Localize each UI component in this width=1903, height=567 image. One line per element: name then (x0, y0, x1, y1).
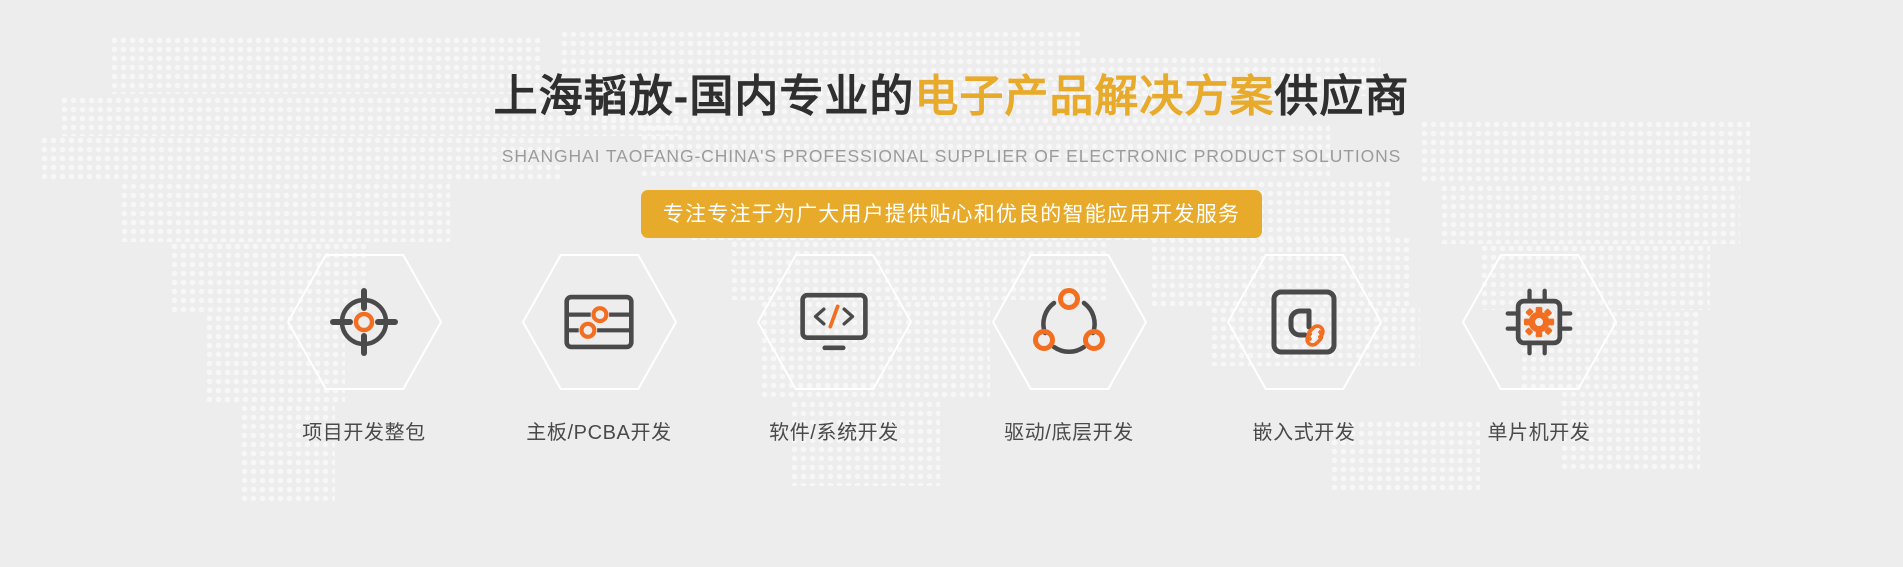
service-item-embedded[interactable]: 嵌入式开发 (1207, 254, 1402, 445)
hexagon-frame (1462, 254, 1617, 390)
headline-part-1: 上海韬放-国内专业的 (494, 72, 915, 121)
service-item-pcba[interactable]: 主板/PCBA开发 (502, 254, 697, 445)
hexagon-frame (757, 254, 912, 390)
network-nodes-icon (1033, 286, 1105, 358)
hexagon-frame (992, 254, 1147, 390)
embedded-link-icon (1268, 286, 1340, 358)
service-label: 软件/系统开发 (769, 416, 899, 445)
service-label: 嵌入式开发 (1253, 416, 1356, 445)
crosshair-target-icon (328, 286, 400, 358)
headline-highlight: 电子产品解决方案 (914, 72, 1274, 121)
service-item-mcu[interactable]: 单片机开发 (1442, 254, 1637, 445)
monitor-code-icon (798, 286, 870, 358)
page-subtitle: SHANGHAI TAOFANG-CHINA'S PROFESSIONAL SU… (0, 146, 1903, 167)
service-item-project-package[interactable]: 项目开发整包 (267, 254, 462, 445)
service-item-software[interactable]: 软件/系统开发 (737, 254, 932, 445)
hexagon-frame (287, 254, 442, 390)
slogan-badge: 专注专注于为广大用户提供贴心和优良的智能应用开发服务 (641, 190, 1262, 238)
hexagon-frame (522, 254, 677, 390)
hexagon-frame (1227, 254, 1382, 390)
service-item-driver[interactable]: 驱动/底层开发 (972, 254, 1167, 445)
circuit-board-icon (563, 286, 635, 358)
headline-part-2: 供应商 (1274, 72, 1409, 121)
service-label: 驱动/底层开发 (1004, 416, 1134, 445)
microchip-gear-icon (1503, 286, 1575, 358)
service-list: 项目开发整包 (267, 254, 1637, 445)
page-title: 上海韬放-国内专业的电子产品解决方案供应商 (0, 75, 1903, 119)
service-label: 单片机开发 (1488, 416, 1591, 445)
hero-banner: 上海韬放-国内专业的电子产品解决方案供应商 SHANGHAI TAOFANG-C… (0, 0, 1903, 567)
slogan-container: 专注专注于为广大用户提供贴心和优良的智能应用开发服务 (0, 190, 1903, 238)
service-label: 主板/PCBA开发 (526, 416, 671, 445)
service-label: 项目开发整包 (302, 416, 426, 445)
